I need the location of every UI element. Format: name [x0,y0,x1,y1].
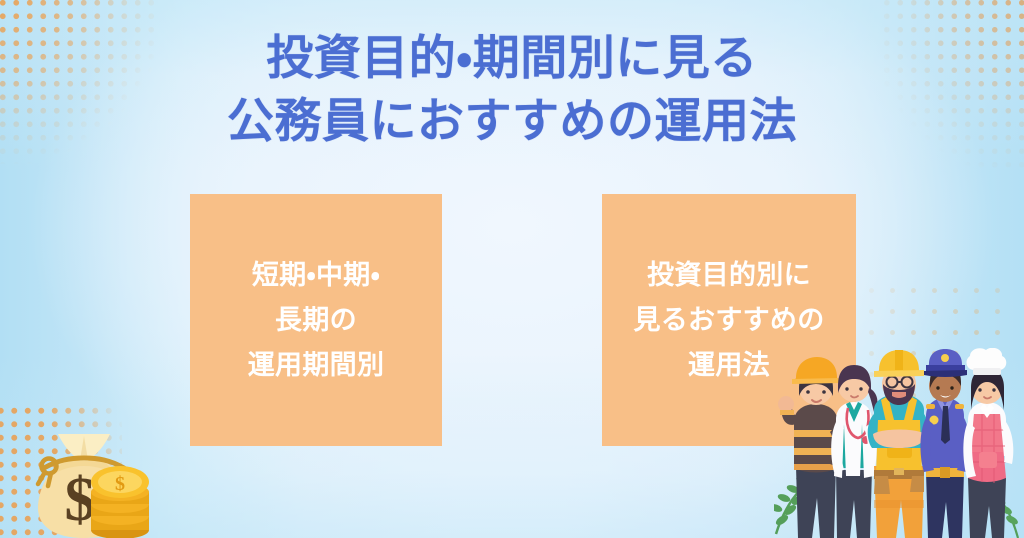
banner-canvas: 投資目的・期間別に見る 公務員におすすめの運用法 短期・中期・ 長期の 運用期間… [0,0,1024,538]
title-line-2: 公務員におすすめの運用法 [0,89,1024,152]
figure-construction-worker [868,350,929,538]
investment-period-panel[interactable]: 短期・中期・ 長期の 運用期間別 [190,194,442,446]
svg-text:$: $ [115,473,125,495]
figure-police-officer [920,349,969,538]
investment-period-panel-label: 短期・中期・ 長期の 運用期間別 [248,253,385,388]
figure-doctor [831,365,877,538]
public-service-workers-illustration [774,348,1024,538]
svg-text:$: $ [65,466,96,534]
page-title: 投資目的・期間別に見る 公務員におすすめの運用法 [0,26,1024,152]
money-bag-icon: $ $ [18,420,150,538]
title-line-1: 投資目的・期間別に見る [0,26,1024,89]
